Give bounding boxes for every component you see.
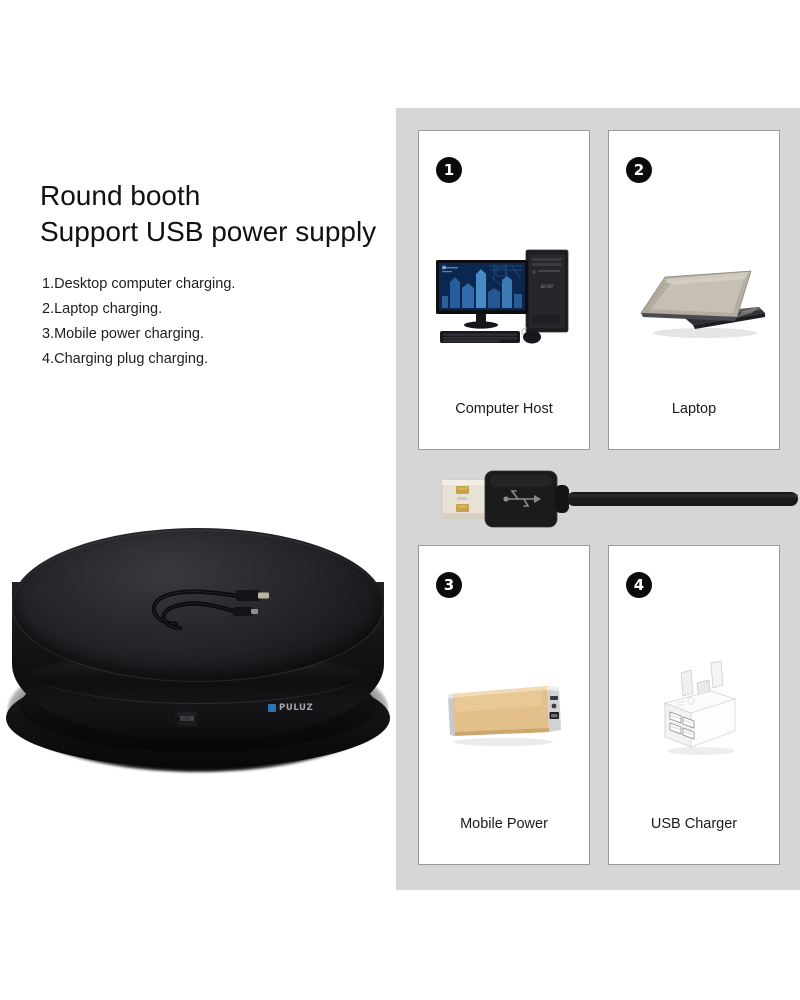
usage-card-usb-charger: 4 (608, 545, 780, 865)
card-badge: 4 (626, 572, 652, 598)
usage-card-computer-host: 1 acer (418, 130, 590, 450)
usb-wall-charger-icon (609, 608, 779, 813)
card-badge: 1 (436, 157, 462, 183)
headline-block: Round booth Support USB power supply (40, 178, 400, 250)
product-turntable-image (4, 528, 394, 773)
headline-line-2: Support USB power supply (40, 214, 400, 250)
usage-card-laptop: 2 Laptop (608, 130, 780, 450)
svg-text:acer: acer (540, 283, 554, 290)
card-label: Laptop (609, 401, 779, 417)
turntable-seam (18, 624, 378, 704)
brand-logo: PULUZ (268, 703, 313, 713)
feature-item: 2.Laptop charging. (42, 297, 392, 322)
brand-mark-icon (268, 704, 276, 712)
usage-scenarios-panel: 1 acer (396, 108, 800, 890)
power-switch[interactable] (176, 712, 198, 726)
feature-item: 4.Charging plug charging. (42, 347, 392, 372)
card-badge: 3 (436, 572, 462, 598)
brand-name: PULUZ (279, 703, 313, 713)
feature-item: 3.Mobile power charging. (42, 322, 392, 347)
usb-a-connector-icon (440, 463, 800, 535)
feature-item: 1.Desktop computer charging. (42, 272, 392, 297)
card-label: USB Charger (609, 816, 779, 832)
laptop-icon (609, 193, 779, 398)
headline-line-1: Round booth (40, 178, 400, 214)
usage-card-mobile-power: 3 (418, 545, 590, 865)
card-label: Mobile Power (419, 816, 589, 832)
usb-cable-coiled-icon (142, 580, 278, 636)
card-label: Computer Host (419, 401, 589, 417)
card-badge: 2 (626, 157, 652, 183)
desktop-computer-icon: acer (419, 193, 589, 398)
feature-list: 1.Desktop computer charging. 2.Laptop ch… (42, 272, 392, 372)
power-bank-icon (419, 608, 589, 813)
